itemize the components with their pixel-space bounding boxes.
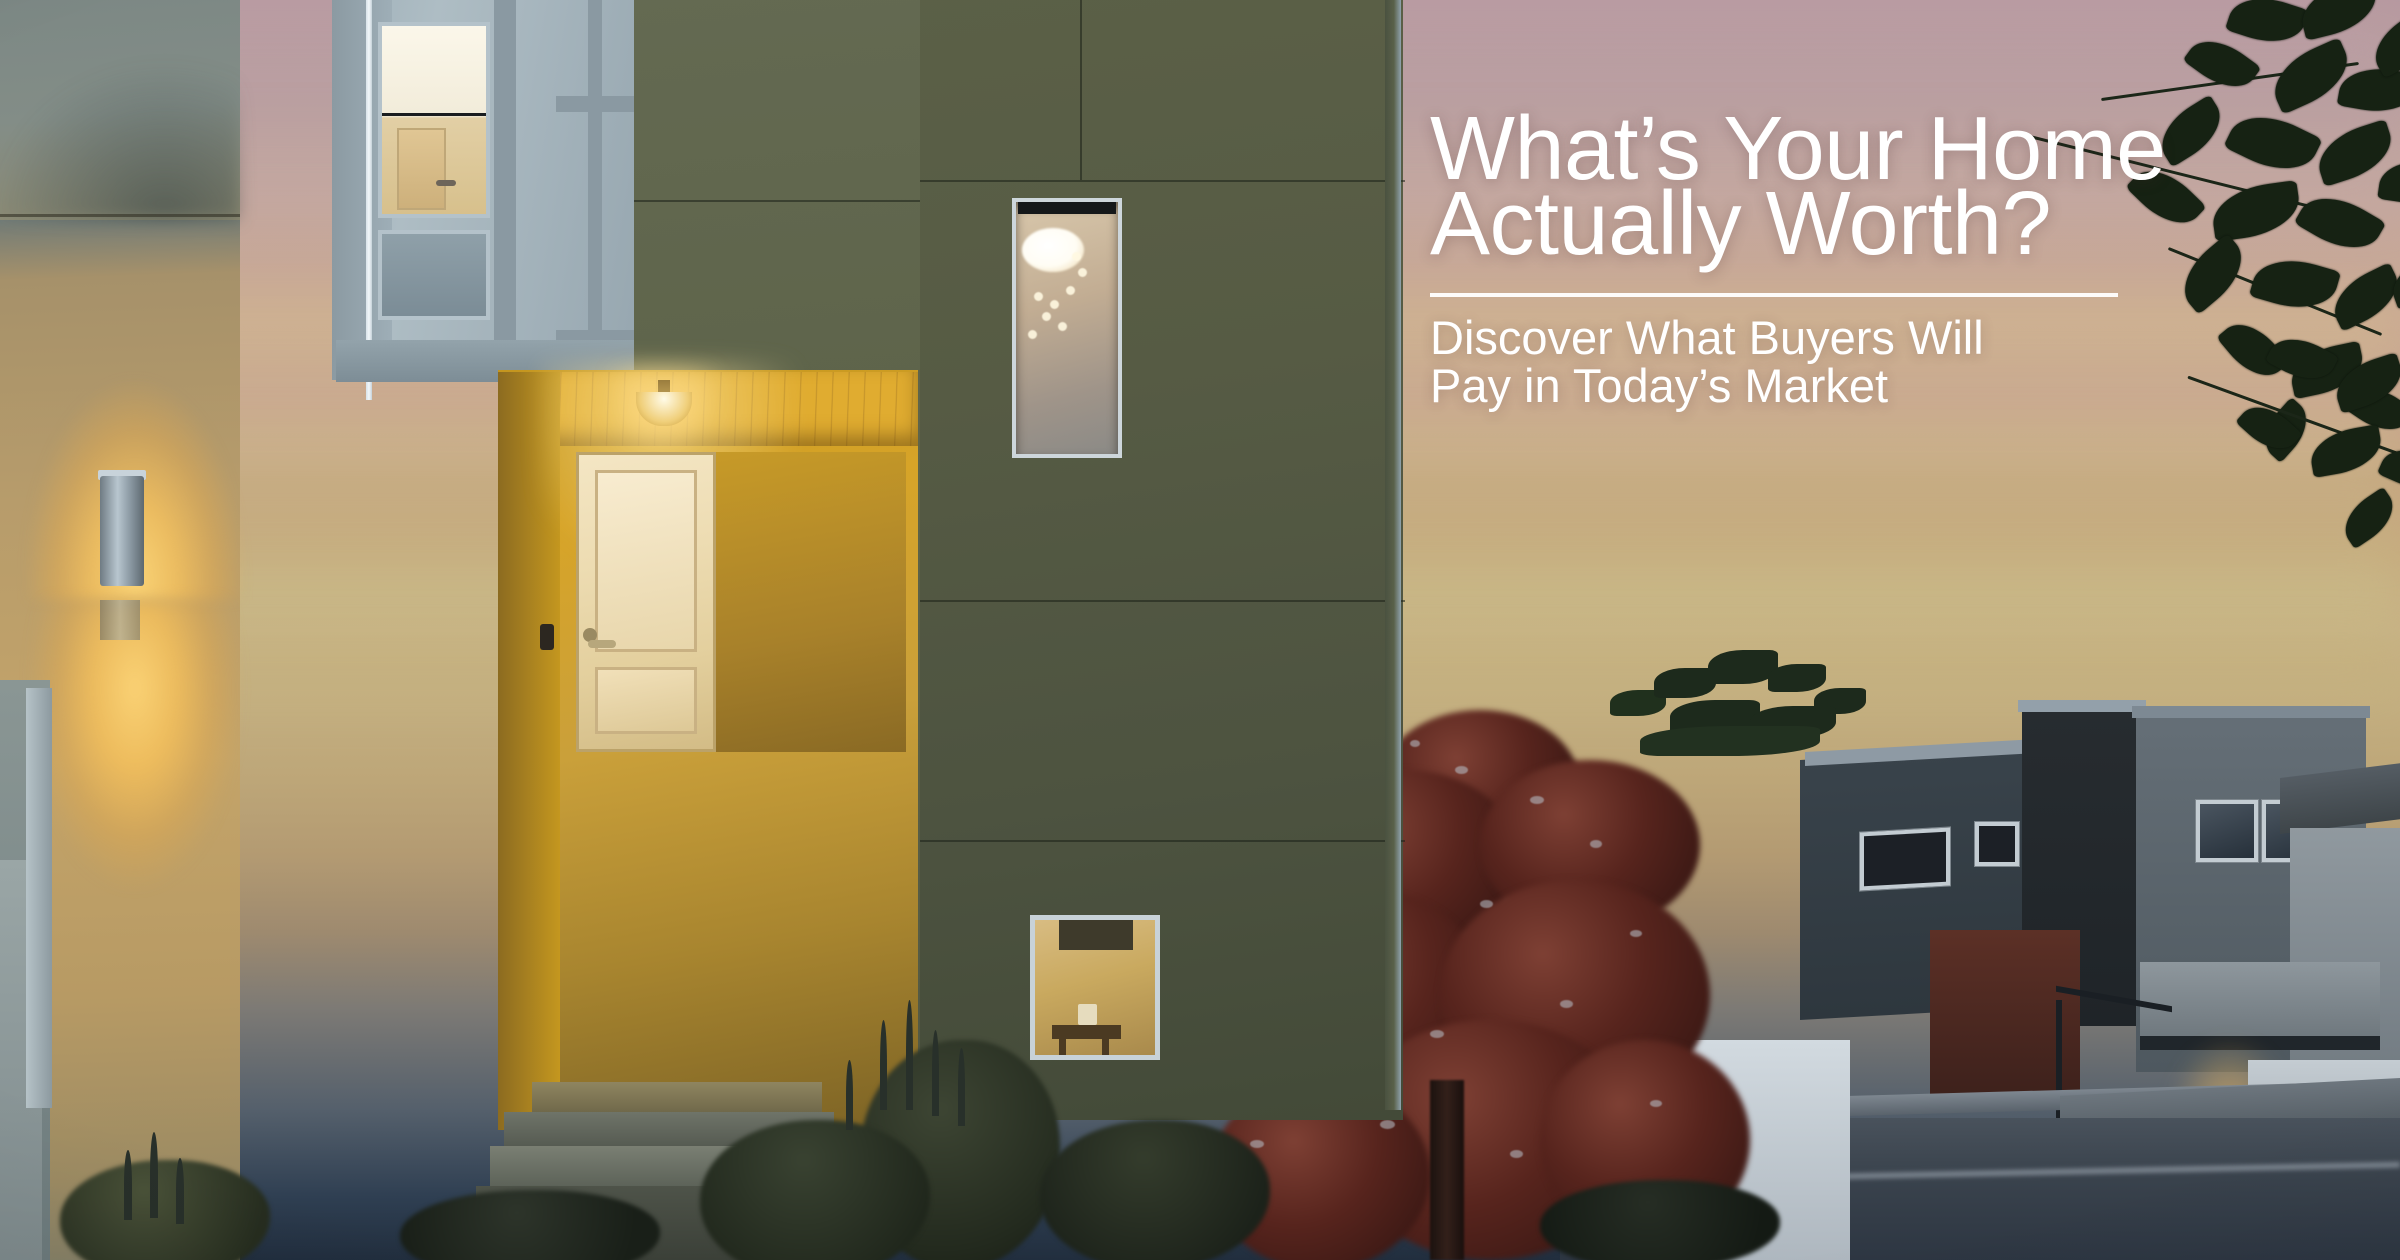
bay-upper-window: [378, 22, 490, 218]
pendant-light: [1022, 228, 1084, 272]
chandelier-bead: [1078, 268, 1087, 277]
hero-copy-block: What’s Your Home Actually Worth? Discove…: [1430, 112, 2190, 410]
left-door-frame: [26, 688, 52, 1108]
chandelier-bead: [1066, 286, 1075, 295]
house-dark-centre-parapet: [2018, 700, 2146, 712]
house-grey-tall-parapet: [2132, 706, 2370, 718]
wall-sconce-reflection: [100, 600, 140, 640]
chandelier-bead: [1072, 252, 1081, 261]
interior-door: [397, 128, 447, 211]
headline-divider: [1430, 293, 2118, 297]
bay-lower-window: [378, 230, 490, 320]
window-shade: [382, 26, 486, 116]
chandelier-bead: [1042, 312, 1051, 321]
wall-sconce-fixture: [100, 476, 144, 586]
wall-seam: [905, 180, 1405, 182]
bay-front-face: [512, 0, 634, 380]
interior-table-leg: [1102, 1036, 1109, 1055]
chandelier-bead: [1034, 292, 1043, 301]
interior-object: [1078, 1004, 1097, 1026]
hero-banner: What’s Your Home Actually Worth? Discove…: [0, 0, 2400, 1260]
subheadline: Discover What Buyers Will Pay in Today’s…: [1430, 314, 2190, 410]
door-threshold: [532, 1082, 822, 1114]
bay-vertical-trim: [494, 0, 516, 380]
lower-square-window: [1030, 915, 1160, 1060]
interior-door-handle: [436, 180, 456, 186]
doorbell-intercom[interactable]: [540, 624, 554, 650]
bay-vertical-trim: [588, 0, 602, 380]
tree-trunk: [1430, 1080, 1464, 1260]
door-handle[interactable]: [588, 640, 616, 648]
chandelier-bead: [1058, 322, 1067, 331]
neighbor-window: [1975, 822, 2019, 866]
balcony: [2140, 962, 2380, 1040]
door-panel-upper: [595, 470, 697, 652]
wall-seam: [905, 600, 1405, 602]
chandelier-bead: [1050, 300, 1059, 309]
interior-ceiling: [1059, 920, 1133, 950]
neighbor-window: [1860, 827, 1950, 890]
wall-seam: [1080, 0, 1082, 180]
porch-back-wall: [716, 452, 906, 752]
interior-table-leg: [1059, 1036, 1066, 1055]
front-door[interactable]: [576, 452, 716, 752]
door-panel-lower: [595, 667, 697, 735]
headline: What’s Your Home Actually Worth?: [1430, 112, 2190, 262]
main-house-corner-trim: [1385, 0, 1401, 1110]
neighbor-window: [2196, 800, 2258, 862]
chandelier-bead: [1028, 330, 1037, 339]
wall-seam: [905, 840, 1405, 842]
